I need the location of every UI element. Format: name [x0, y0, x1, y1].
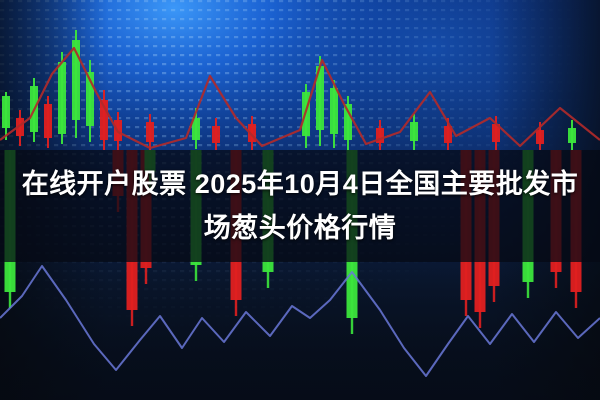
candle-body: [44, 104, 52, 138]
candle-body: [58, 62, 66, 134]
title-overlay-band: 在线开户股票 2025年10月4日全国主要批发市 场葱头价格行情: [0, 150, 600, 262]
headline-line-2: 场葱头价格行情: [204, 206, 397, 250]
candle-body: [2, 96, 10, 128]
candle-body: [536, 130, 544, 144]
candle-body: [568, 128, 576, 143]
candle-body: [212, 126, 220, 143]
candle-body: [146, 122, 154, 142]
top-candles-group: [2, 30, 576, 150]
stock-banner-image: 在线开户股票 2025年10月4日全国主要批发市 场葱头价格行情: [0, 0, 600, 400]
headline-line-1: 在线开户股票 2025年10月4日全国主要批发市: [22, 162, 579, 206]
candle-body: [410, 122, 418, 141]
blue-trend-line: [0, 266, 600, 376]
candle-body: [330, 88, 338, 134]
